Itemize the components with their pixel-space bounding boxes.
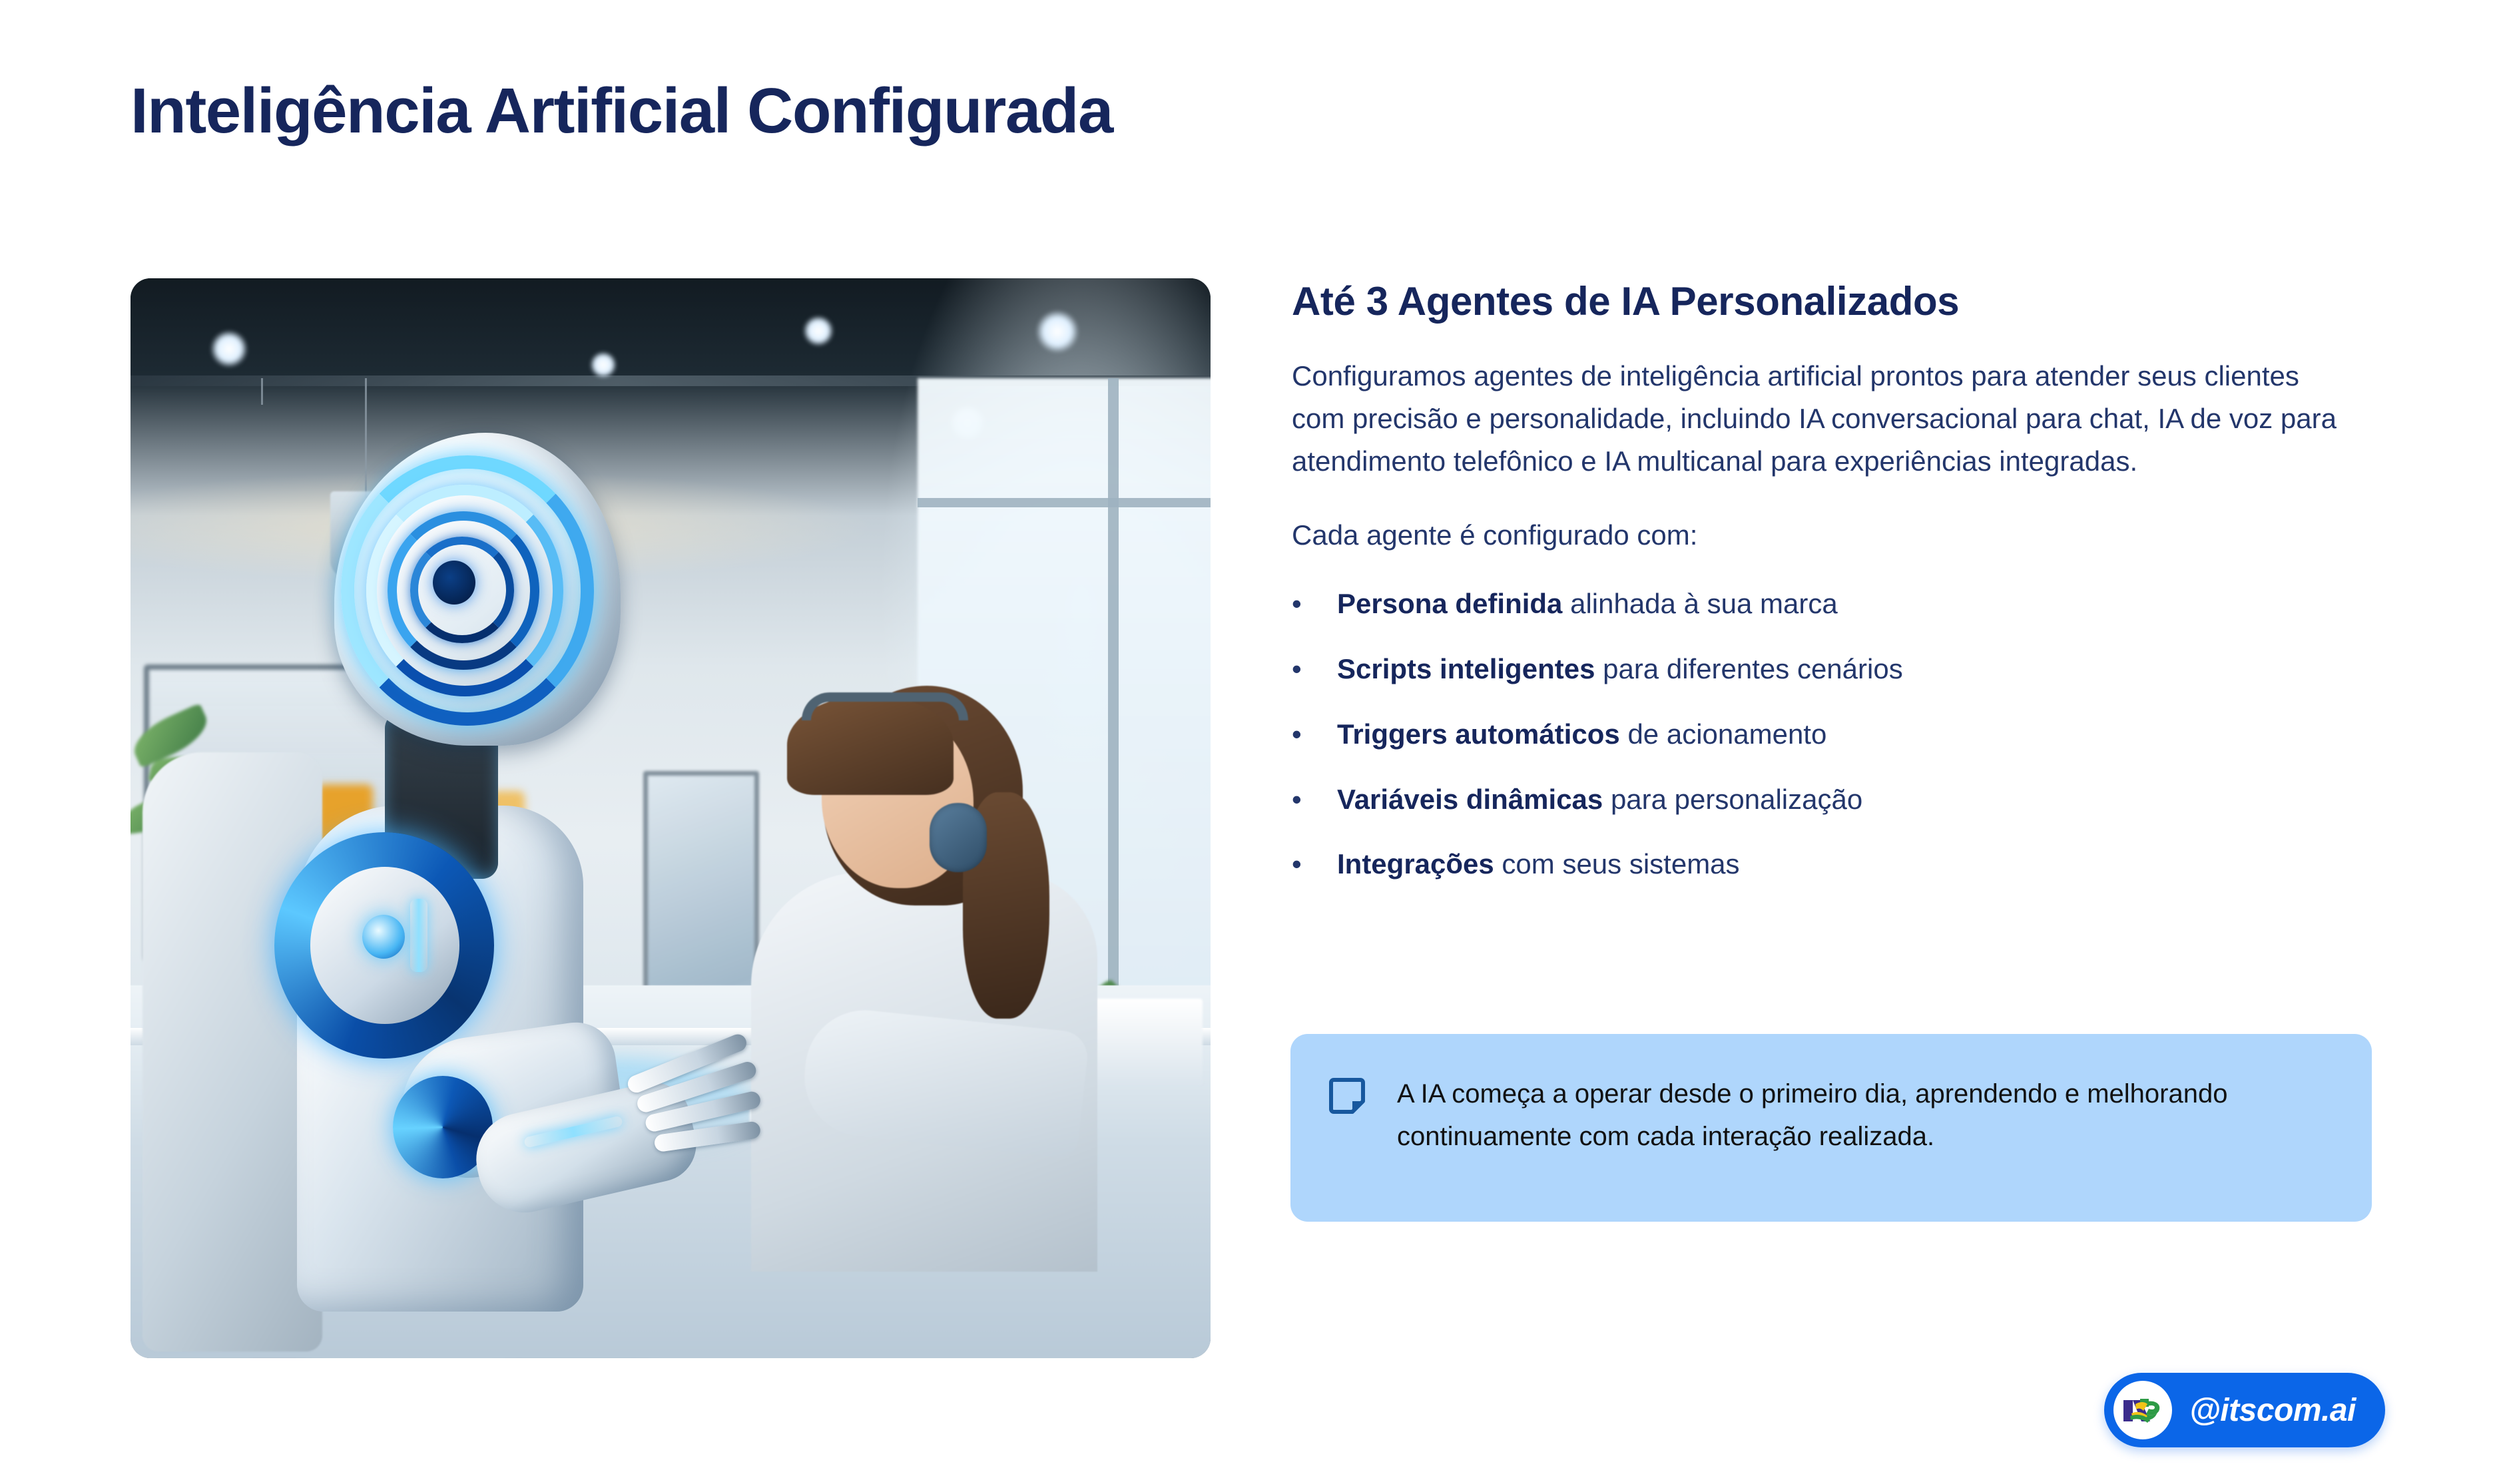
list-item: • Scripts inteligentes para diferentes c… [1292,651,2384,687]
ceiling-spot-icon [210,330,248,368]
list-item: • Triggers automáticos de acionamento [1292,716,2384,752]
feature-list: • Persona definida alinhada à sua marca … [1292,586,2384,882]
list-item-text: Scripts inteligentes para diferentes cen… [1337,651,1903,687]
bullet-marker-icon: • [1292,716,1337,752]
list-item-rest: para diferentes cenários [1595,653,1902,684]
office-photo [131,278,1211,1358]
robot-shoulder-light [362,915,405,959]
list-item: • Integrações com seus sistemas [1292,846,2384,882]
paragraph-intro: Configuramos agentes de inteligência art… [1292,355,2351,482]
list-item-strong: Variáveis dinâmicas [1337,784,1603,815]
hero-image-card [131,278,1211,1358]
list-item: • Variáveis dinâmicas para personalizaçã… [1292,782,2384,818]
robot-glow-strip [410,899,427,972]
headset-earcup-icon [930,803,987,872]
list-item-strong: Scripts inteligentes [1337,653,1595,684]
page-title: Inteligência Artificial Configurada [131,75,1113,148]
ceiling-spot-icon [803,316,834,346]
bullet-marker-icon: • [1292,586,1337,622]
list-item-text: Persona definida alinhada à sua marca [1337,586,1838,622]
its-logo-icon [2113,1381,2172,1439]
list-item-rest: com seus sistemas [1494,848,1740,879]
list-item-text: Integrações com seus sistemas [1337,846,1740,882]
paragraph-lead-in: Cada agente é configurado com: [1292,514,2351,557]
list-item-text: Triggers automáticos de acionamento [1337,716,1826,752]
ceiling-spot-icon [1036,310,1079,353]
list-item-strong: Integrações [1337,848,1494,879]
list-item-rest: para personalização [1603,784,1862,815]
note-icon [1329,1077,1365,1115]
robot-figure [210,433,756,1338]
list-item: • Persona definida alinhada à sua marca [1292,586,2384,622]
content-heading: Até 3 Agentes de IA Personalizados [1292,278,2384,324]
callout-text: A IA começa a operar desde o primeiro di… [1397,1073,2316,1222]
headset-band-icon [802,692,968,720]
ceiling-spot-icon [590,352,617,378]
agent-person [738,672,1111,1258]
bullet-marker-icon: • [1292,846,1337,882]
bullet-marker-icon: • [1292,651,1337,687]
brand-handle: @itscom.ai [2189,1392,2356,1429]
list-item-rest: alinhada à sua marca [1562,588,1837,619]
list-item-text: Variáveis dinâmicas para personalização [1337,782,1862,818]
list-item-strong: Triggers automáticos [1337,718,1620,750]
bullet-marker-icon: • [1292,782,1337,818]
window-mullion [918,498,1211,507]
callout-box: A IA começa a operar desde o primeiro di… [1290,1034,2372,1222]
list-item-strong: Persona definida [1337,588,1562,619]
list-item-rest: de acionamento [1620,718,1827,750]
robot-eye-core [433,561,475,605]
pendant-wire [261,378,263,405]
content-column: Até 3 Agentes de IA Personalizados Confi… [1292,278,2384,882]
brand-badge[interactable]: @itscom.ai [2104,1373,2385,1447]
